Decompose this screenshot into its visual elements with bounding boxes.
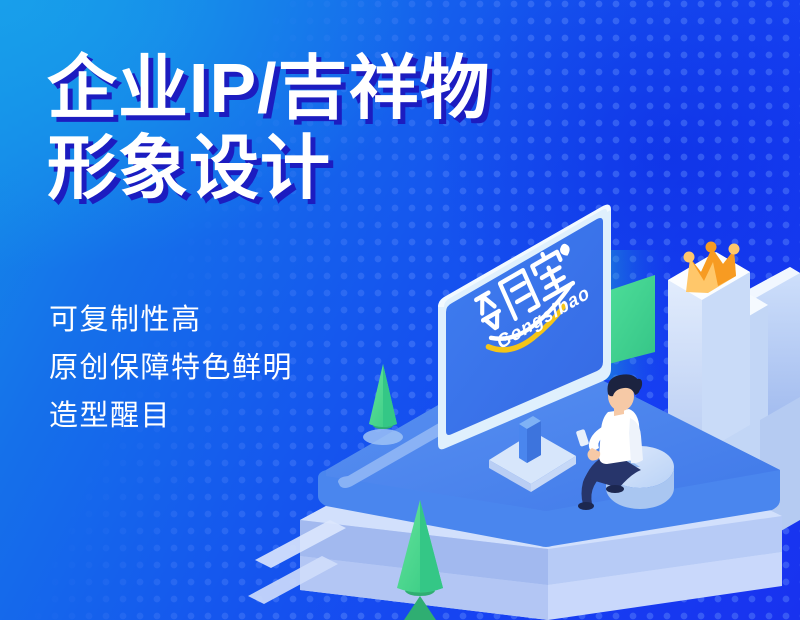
- tree-small: [363, 364, 403, 445]
- promo-banner: Gongsibao: [0, 0, 800, 620]
- headline-line-2: 形象设计: [47, 128, 607, 208]
- headline-block: 企业IP/吉祥物 形象设计: [47, 48, 607, 208]
- feature-line-2: 原创保障特色鲜明: [49, 344, 293, 392]
- feature-list: 可复制性高 原创保障特色鲜明 造型醒目: [49, 296, 293, 440]
- feature-line-3: 造型醒目: [49, 392, 293, 440]
- feature-line-1: 可复制性高: [49, 296, 293, 344]
- headline-line-1: 企业IP/吉祥物: [47, 48, 607, 128]
